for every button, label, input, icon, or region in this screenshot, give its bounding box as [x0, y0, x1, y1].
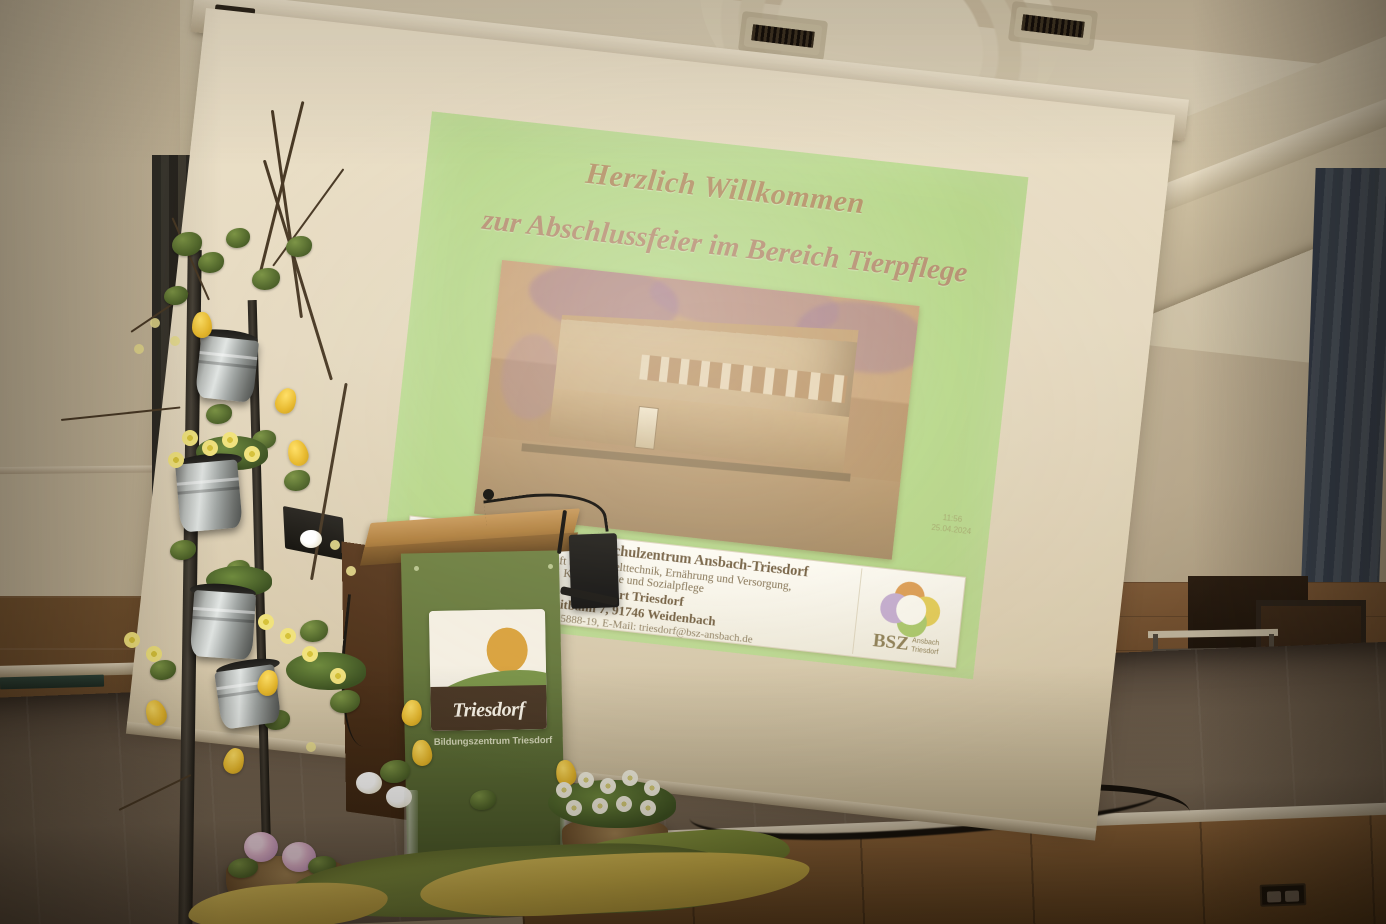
slide-timestamp: 11:56 25.04.2024 [931, 512, 973, 538]
white-daisy-5 [644, 780, 660, 796]
triesdorf-logo-plate: Triesdorf [429, 609, 547, 731]
sprig-4 [330, 540, 340, 550]
bsz-logo: BSZ Ansbach Triesdorf [852, 568, 965, 665]
daisy-1 [182, 430, 198, 446]
bsz-subtitle: Ansbach Triesdorf [911, 638, 940, 657]
daisy-10 [124, 632, 140, 648]
daisy-9 [330, 668, 346, 684]
white-daisy-9 [640, 800, 656, 816]
projection-screen: Herzlich Willkommen zur Abschlussfeier i… [127, 8, 1175, 831]
white-daisy-2 [578, 772, 594, 788]
bsz-ring-icon [879, 579, 940, 637]
power-outlet[interactable] [1260, 883, 1307, 907]
sprig-2 [170, 336, 180, 346]
auditorium-scene: Herzlich Willkommen zur Abschlussfeier i… [0, 0, 1386, 924]
white-blossom-3 [300, 530, 322, 548]
moss-cluster-3 [286, 652, 366, 690]
bucket-3 [190, 590, 256, 660]
bucket-2 [175, 459, 243, 532]
white-daisy-7 [592, 798, 608, 814]
bucket-1 [195, 335, 259, 403]
curtain-right [1300, 168, 1386, 608]
daisy-3 [222, 432, 238, 448]
microphone-capsule-icon [483, 489, 494, 500]
daisy-7 [280, 628, 296, 644]
daisy-8 [302, 646, 318, 662]
daisy-4 [244, 446, 260, 462]
daisy-11 [146, 646, 162, 662]
bsz-initials: BSZ [872, 633, 910, 654]
lectern-screw-right [548, 564, 553, 569]
white-daisy-8 [616, 796, 632, 812]
sprig-6 [306, 742, 316, 752]
white-daisy-4 [622, 770, 638, 786]
lectern-screw-left [414, 566, 419, 571]
white-blossom-1 [356, 772, 382, 794]
sprig-3 [134, 344, 144, 354]
sprig-5 [346, 566, 356, 576]
daisy-6 [258, 614, 274, 630]
daisy-2 [202, 440, 218, 456]
white-daisy-1 [556, 782, 572, 798]
daisy-5 [168, 452, 184, 468]
sprig-1 [150, 318, 160, 328]
triesdorf-wordmark: Triesdorf [431, 698, 547, 723]
white-daisy-3 [600, 778, 616, 794]
tulip-1 [192, 312, 212, 338]
white-daisy-6 [566, 800, 582, 816]
